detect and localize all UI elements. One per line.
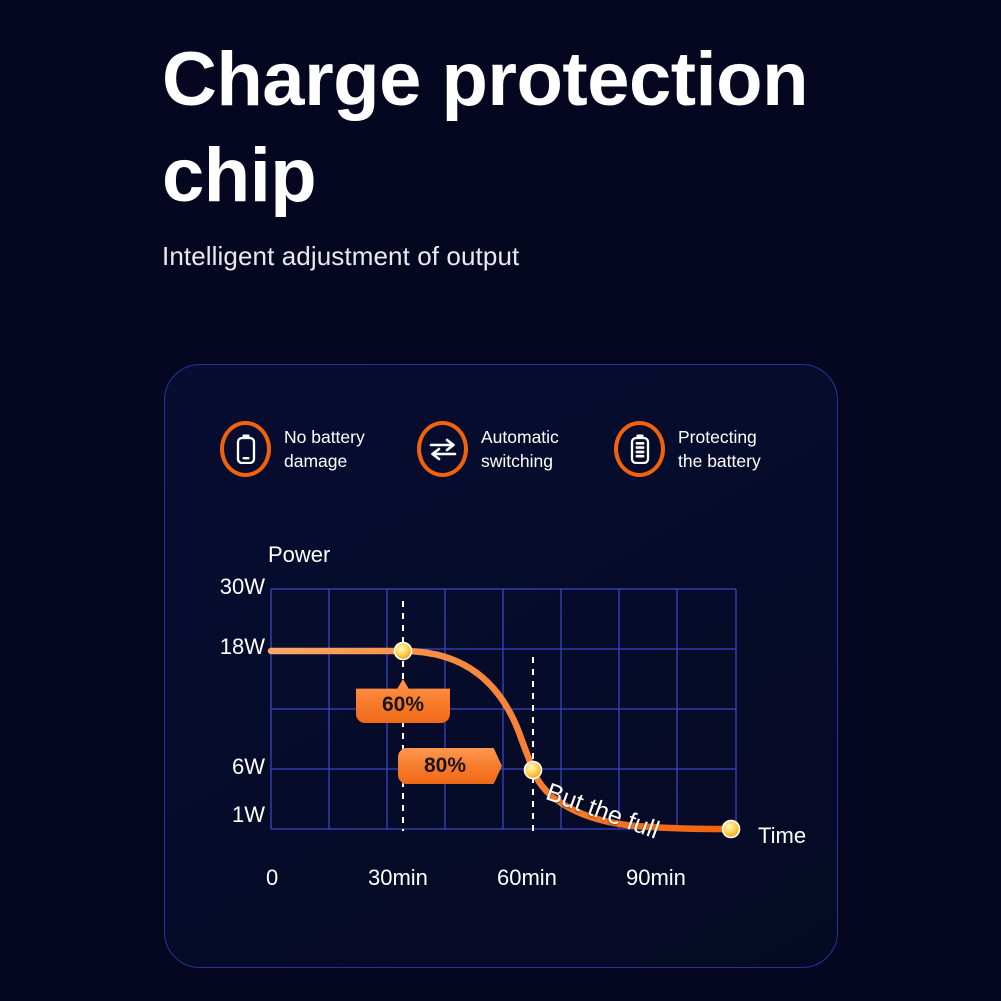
page-subtitle: Intelligent adjustment of output: [162, 241, 519, 272]
data-point-end: [723, 821, 740, 838]
chart-plot-area: [165, 365, 839, 969]
info-card: No battery damage Automatic switching: [164, 364, 838, 968]
callout-badge-80[interactable]: 80%: [398, 748, 502, 784]
data-point-60: [395, 643, 412, 660]
page-title: Charge protection chip: [162, 32, 922, 224]
chart-curve-series: [271, 651, 731, 829]
promo-slide: Charge protection chip Intelligent adjus…: [0, 0, 1001, 1001]
power-time-chart: Power Time 30W 18W 6W 1W 0 30min 60min 9…: [165, 365, 839, 969]
data-point-80: [525, 762, 542, 779]
